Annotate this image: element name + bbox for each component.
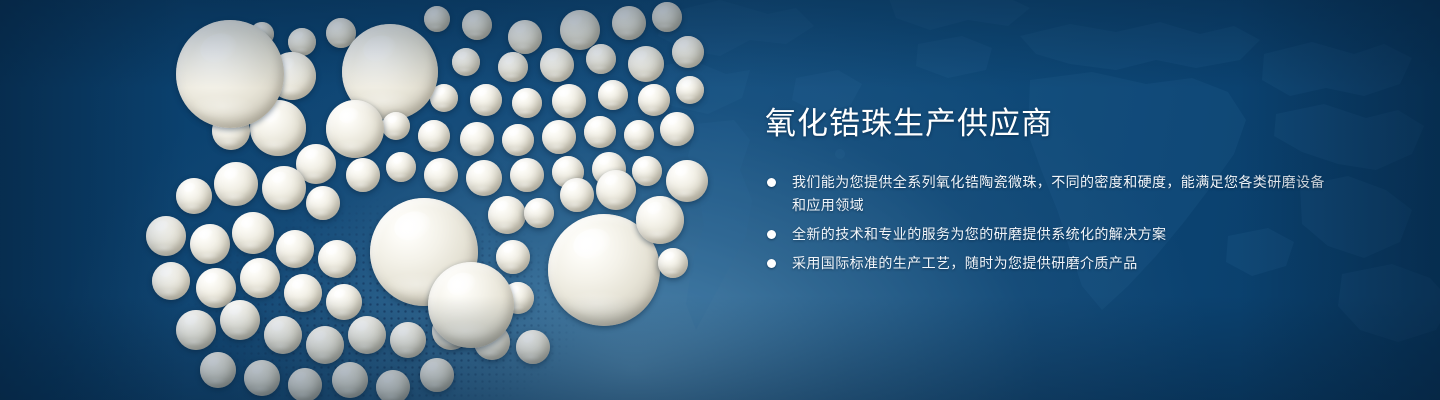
hero-banner: 氧化锆珠生产供应商 我们能为您提供全系列氧化锆陶瓷微珠，不同的密度和硬度，能满足… xyxy=(0,0,1440,400)
edge-vignette xyxy=(0,0,1440,400)
